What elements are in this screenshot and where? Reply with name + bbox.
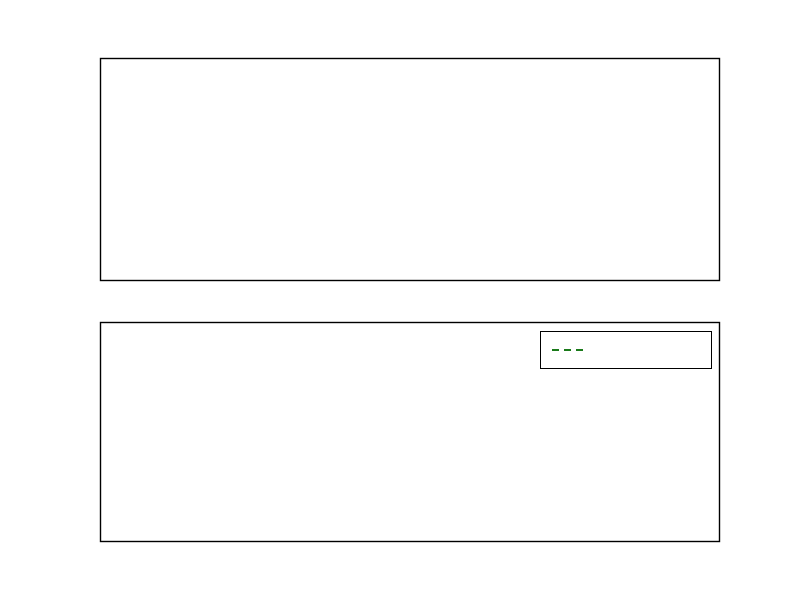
legend-dash-icon	[551, 344, 585, 356]
top-axes-frame	[101, 59, 720, 281]
figure-canvas	[0, 0, 800, 600]
differential-histogram-plot	[0, 0, 800, 600]
cumulative-histogram-plot	[0, 0, 800, 600]
legend	[540, 331, 712, 369]
